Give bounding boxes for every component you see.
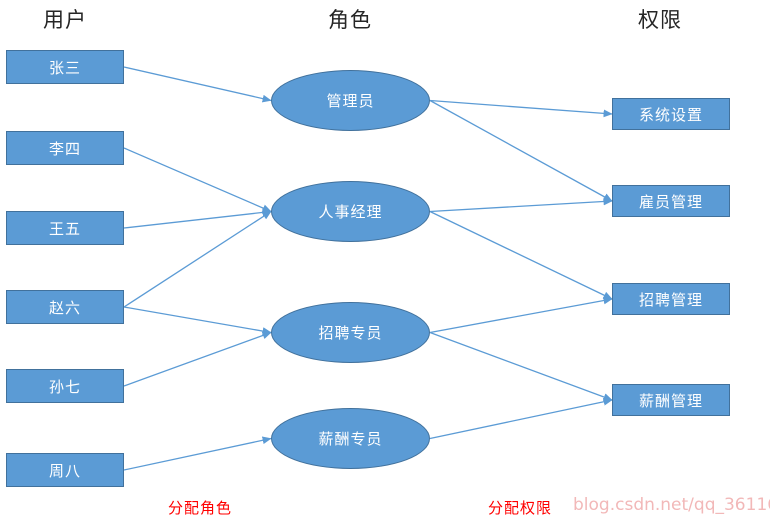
edge-u6-to-r4 bbox=[124, 439, 271, 471]
user-node-u5[interactable]: 孙七 bbox=[6, 369, 124, 403]
user-node-u1[interactable]: 张三 bbox=[6, 50, 124, 84]
user-node-u6[interactable]: 周八 bbox=[6, 453, 124, 487]
role-node-r2[interactable]: 人事经理 bbox=[271, 181, 430, 242]
column-header-permissions: 权限 bbox=[600, 4, 720, 34]
note-n2: 分配权限 bbox=[488, 497, 552, 518]
edge-u1-to-r1 bbox=[124, 67, 271, 101]
permission-node-p3[interactable]: 招聘管理 bbox=[612, 283, 730, 315]
column-header-roles: 角色 bbox=[290, 4, 410, 34]
edge-u4-to-r3 bbox=[124, 307, 271, 333]
edge-r4-to-p4 bbox=[430, 400, 612, 439]
column-header-users: 用户 bbox=[5, 4, 125, 34]
role-node-r1[interactable]: 管理员 bbox=[271, 70, 430, 131]
permission-node-p2[interactable]: 雇员管理 bbox=[612, 185, 730, 217]
edge-r3-to-p3 bbox=[430, 299, 612, 333]
role-node-r3[interactable]: 招聘专员 bbox=[271, 302, 430, 363]
edge-r2-to-p2 bbox=[430, 201, 612, 212]
user-role-edges bbox=[124, 67, 271, 470]
role-node-r4[interactable]: 薪酬专员 bbox=[271, 408, 430, 469]
note-n1: 分配角色 bbox=[168, 497, 232, 518]
edge-r1-to-p1 bbox=[430, 101, 612, 115]
permission-node-p1[interactable]: 系统设置 bbox=[612, 98, 730, 130]
edge-u5-to-r3 bbox=[124, 333, 271, 387]
rbac-diagram-canvas: 用户角色权限 张三李四王五赵六孙七周八 管理员人事经理招聘专员薪酬专员 系统设置… bbox=[0, 0, 770, 530]
edge-u2-to-r2 bbox=[124, 148, 271, 212]
edge-r1-to-p2 bbox=[430, 101, 612, 202]
user-node-u4[interactable]: 赵六 bbox=[6, 290, 124, 324]
watermark-text: blog.csdn.net/qq_36116242 bbox=[573, 495, 770, 515]
edge-r3-to-p4 bbox=[430, 333, 612, 401]
user-node-u2[interactable]: 李四 bbox=[6, 131, 124, 165]
edge-r2-to-p3 bbox=[430, 212, 612, 300]
role-permission-edges bbox=[430, 101, 612, 439]
permission-node-p4[interactable]: 薪酬管理 bbox=[612, 384, 730, 416]
user-node-u3[interactable]: 王五 bbox=[6, 211, 124, 245]
